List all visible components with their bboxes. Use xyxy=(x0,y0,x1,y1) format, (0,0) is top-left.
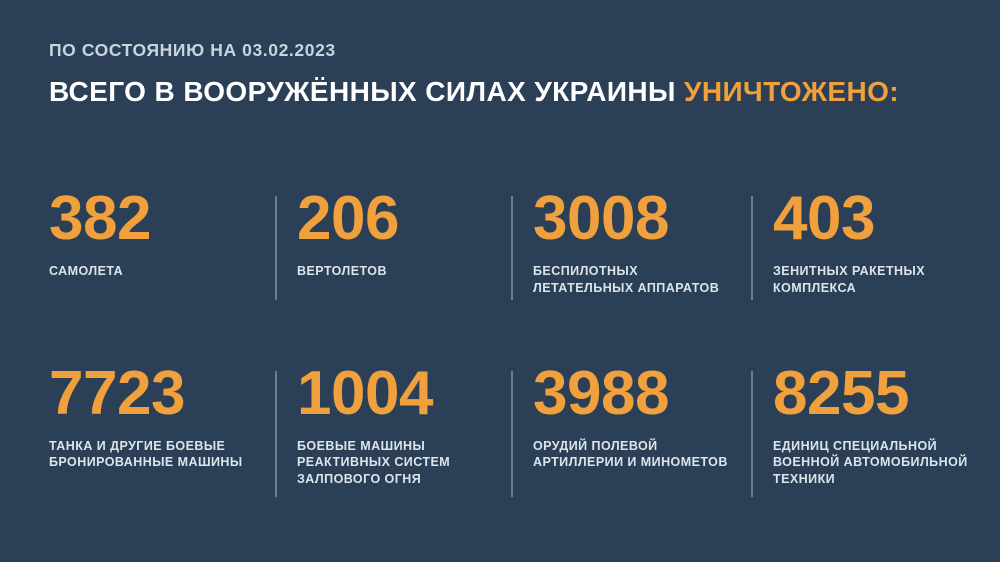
stat-label-line: БРОНИРОВАННЫЕ МАШИНЫ xyxy=(49,454,257,471)
stat-label-line: КОМПЛЕКСА xyxy=(773,280,936,297)
stat-label: ОРУДИЙ ПОЛЕВОЙ АРТИЛЛЕРИИ И МИНОМЕТОВ xyxy=(533,438,733,472)
stat-label-line: ВОЕННОЙ АВТОМОБИЛЬНОЙ xyxy=(773,454,936,471)
stat-label-line: ТЕХНИКИ xyxy=(773,471,936,488)
stat-label-line: РЕАКТИВНЫХ СИСТЕМ xyxy=(297,454,493,471)
stat-value: 8255 xyxy=(773,365,936,424)
stat-cell: 3988 ОРУДИЙ ПОЛЕВОЙ АРТИЛЛЕРИИ И МИНОМЕТ… xyxy=(511,365,751,472)
stat-cell: 206 ВЕРТОЛЕТОВ xyxy=(275,190,511,280)
stat-label-line: ЗАЛПОВОГО ОГНЯ xyxy=(297,471,493,488)
stat-label-line: ЗЕНИТНЫХ РАКЕТНЫХ xyxy=(773,263,936,280)
stat-cell: 8255 ЕДИНИЦ СПЕЦИАЛЬНОЙ ВОЕННОЙ АВТОМОБИ… xyxy=(751,365,954,489)
stat-value: 1004 xyxy=(297,365,493,424)
stat-cell: 7723 ТАНКА И ДРУГИЕ БОЕВЫЕ БРОНИРОВАННЫЕ… xyxy=(49,365,275,472)
stat-label-line: ОРУДИЙ ПОЛЕВОЙ xyxy=(533,438,733,455)
stat-label-line: ЕДИНИЦ СПЕЦИАЛЬНОЙ xyxy=(773,438,936,455)
stat-value: 3988 xyxy=(533,365,733,424)
stat-cell: 1004 БОЕВЫЕ МАШИНЫ РЕАКТИВНЫХ СИСТЕМ ЗАЛ… xyxy=(275,365,511,489)
column-divider xyxy=(275,196,277,300)
stat-label-line: БЕСПИЛОТНЫХ xyxy=(533,263,733,280)
stat-label-line: АРТИЛЛЕРИИ И МИНОМЕТОВ xyxy=(533,454,733,471)
stat-value: 382 xyxy=(49,190,257,249)
page-title: ВСЕГО В ВООРУЖЁННЫХ СИЛАХ УКРАИНЫ УНИЧТО… xyxy=(49,75,969,109)
infographic-poster: ПО СОСТОЯНИЮ НА 03.02.2023 ВСЕГО В ВООРУ… xyxy=(0,0,1000,562)
stat-label: ЕДИНИЦ СПЕЦИАЛЬНОЙ ВОЕННОЙ АВТОМОБИЛЬНОЙ… xyxy=(773,438,936,489)
stat-value: 403 xyxy=(773,190,936,249)
stat-label: ВЕРТОЛЕТОВ xyxy=(297,263,493,280)
stat-value: 3008 xyxy=(533,190,733,249)
stat-label-line: ЛЕТАТЕЛЬНЫХ АППАРАТОВ xyxy=(533,280,733,297)
stat-cell: 403 ЗЕНИТНЫХ РАКЕТНЫХ КОМПЛЕКСА xyxy=(751,190,954,297)
stat-label: ТАНКА И ДРУГИЕ БОЕВЫЕ БРОНИРОВАННЫЕ МАШИ… xyxy=(49,438,257,472)
column-divider xyxy=(751,371,753,497)
stats-row-2: 7723 ТАНКА И ДРУГИЕ БОЕВЫЕ БРОНИРОВАННЫЕ… xyxy=(49,365,954,489)
poster-header: ПО СОСТОЯНИЮ НА 03.02.2023 ВСЕГО В ВООРУ… xyxy=(49,40,969,108)
column-divider xyxy=(511,371,513,497)
stat-label: ЗЕНИТНЫХ РАКЕТНЫХ КОМПЛЕКСА xyxy=(773,263,936,297)
headline-main-text: ВСЕГО В ВООРУЖЁННЫХ СИЛАХ УКРАИНЫ xyxy=(49,76,676,107)
stats-row-1: 382 САМОЛЕТА 206 ВЕРТОЛЕТОВ 3008 БЕСПИЛО… xyxy=(49,190,954,297)
column-divider xyxy=(275,371,277,497)
column-divider xyxy=(751,196,753,300)
stat-label-line: ВЕРТОЛЕТОВ xyxy=(297,263,493,280)
stat-value: 206 xyxy=(297,190,493,249)
stat-label: БЕСПИЛОТНЫХ ЛЕТАТЕЛЬНЫХ АППАРАТОВ xyxy=(533,263,733,297)
headline-accent-text: УНИЧТОЖЕНО: xyxy=(684,76,899,107)
status-date-line: ПО СОСТОЯНИЮ НА 03.02.2023 xyxy=(49,40,969,62)
stats-grid: 382 САМОЛЕТА 206 ВЕРТОЛЕТОВ 3008 БЕСПИЛО… xyxy=(49,190,954,488)
stat-label-line: БОЕВЫЕ МАШИНЫ xyxy=(297,438,493,455)
stat-label: БОЕВЫЕ МАШИНЫ РЕАКТИВНЫХ СИСТЕМ ЗАЛПОВОГ… xyxy=(297,438,493,489)
stat-cell: 3008 БЕСПИЛОТНЫХ ЛЕТАТЕЛЬНЫХ АППАРАТОВ xyxy=(511,190,751,297)
stat-label: САМОЛЕТА xyxy=(49,263,257,280)
stat-cell: 382 САМОЛЕТА xyxy=(49,190,275,280)
stat-label-line: ТАНКА И ДРУГИЕ БОЕВЫЕ xyxy=(49,438,257,455)
column-divider xyxy=(511,196,513,300)
stat-label-line: САМОЛЕТА xyxy=(49,263,257,280)
stat-value: 7723 xyxy=(49,365,257,424)
